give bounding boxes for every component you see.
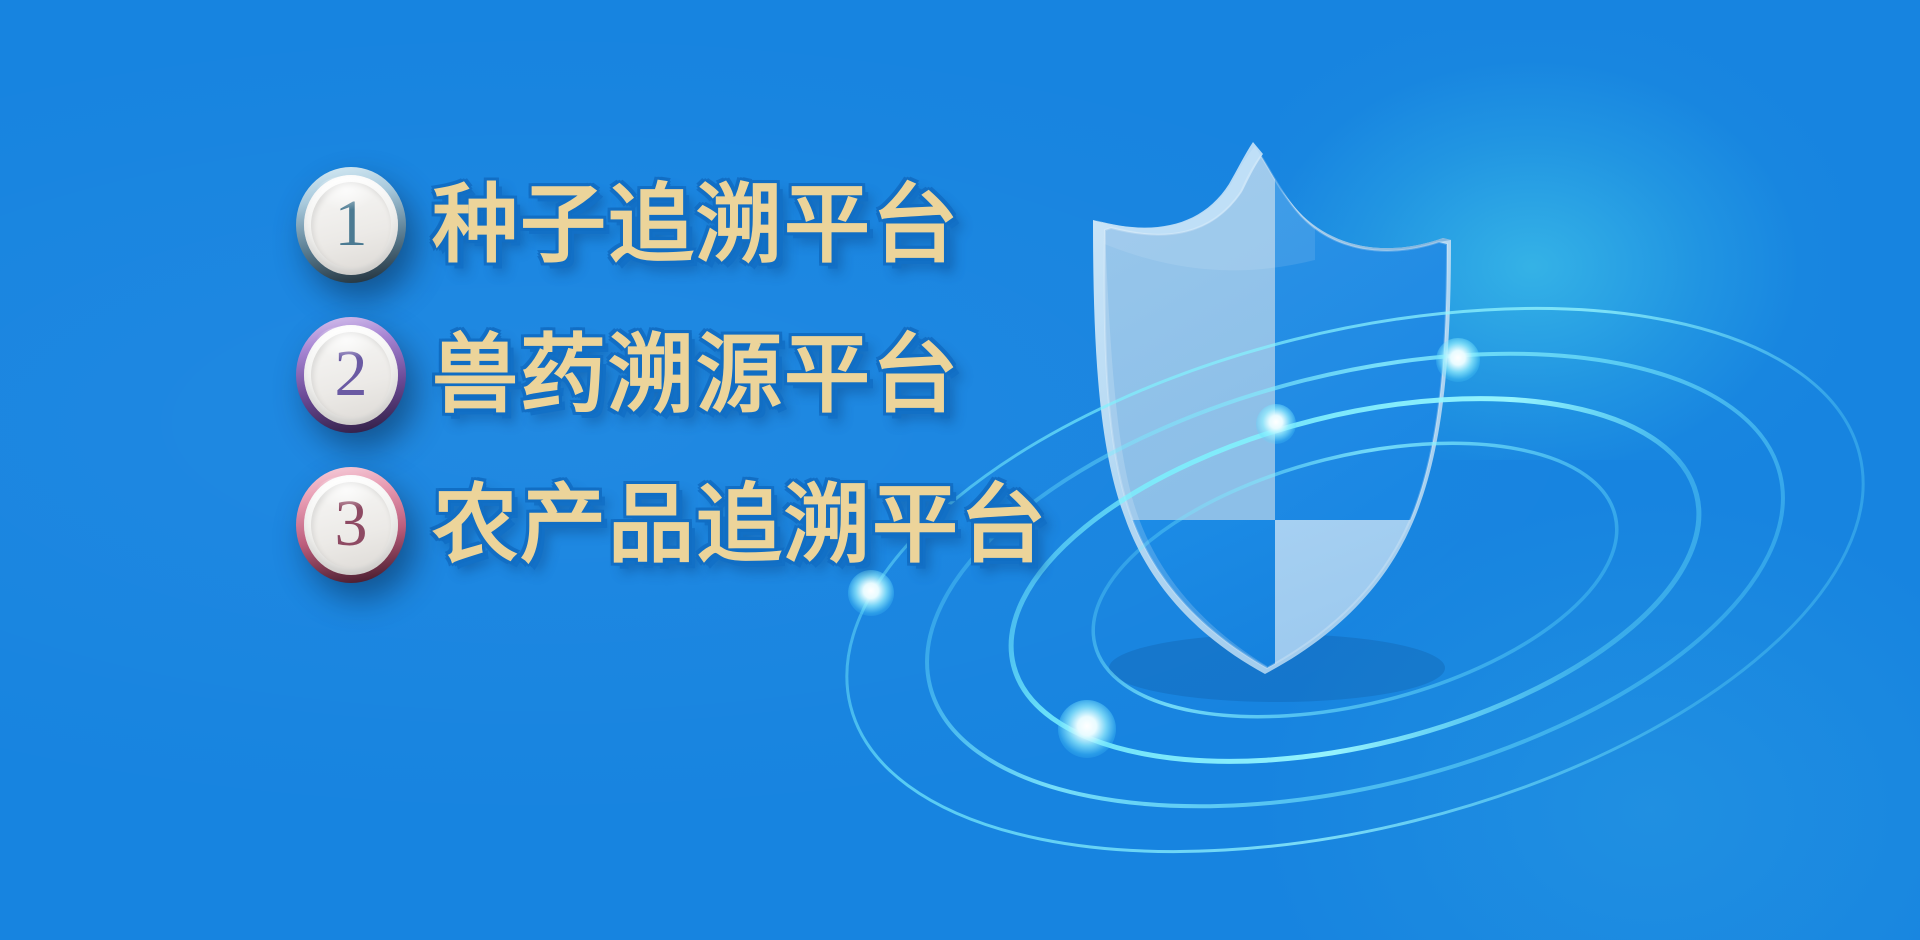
platform-label: 兽药溯源平台 bbox=[432, 332, 960, 418]
shield-quadrants bbox=[1075, 120, 1495, 740]
badge-number-label: 3 bbox=[335, 491, 368, 557]
badge-number-label: 2 bbox=[335, 341, 368, 407]
badge-number-2[interactable]: 2 bbox=[296, 317, 406, 433]
shield-quadrant-top-right bbox=[1275, 140, 1495, 520]
badge-number-3[interactable]: 3 bbox=[296, 467, 406, 583]
badge-number-1[interactable]: 1 bbox=[296, 167, 406, 283]
shield-quadrant-bottom-left bbox=[1075, 520, 1275, 740]
shield-quadrant-bottom-right bbox=[1275, 520, 1495, 740]
platform-label: 农产品追溯平台 bbox=[432, 482, 1048, 568]
platform-label: 种子追溯平台 bbox=[432, 182, 960, 268]
list-item[interactable]: 1 种子追溯平台 bbox=[296, 150, 1076, 300]
banner-stage: 1 种子追溯平台 2 兽药溯源平台 3 农产品追溯平台 bbox=[0, 0, 1920, 940]
list-item[interactable]: 2 兽药溯源平台 bbox=[296, 300, 1076, 450]
badge-number-label: 1 bbox=[335, 191, 368, 257]
platform-list: 1 种子追溯平台 2 兽药溯源平台 3 农产品追溯平台 bbox=[296, 150, 1076, 600]
list-item[interactable]: 3 农产品追溯平台 bbox=[296, 450, 1076, 600]
shield-icon bbox=[1015, 120, 1555, 740]
